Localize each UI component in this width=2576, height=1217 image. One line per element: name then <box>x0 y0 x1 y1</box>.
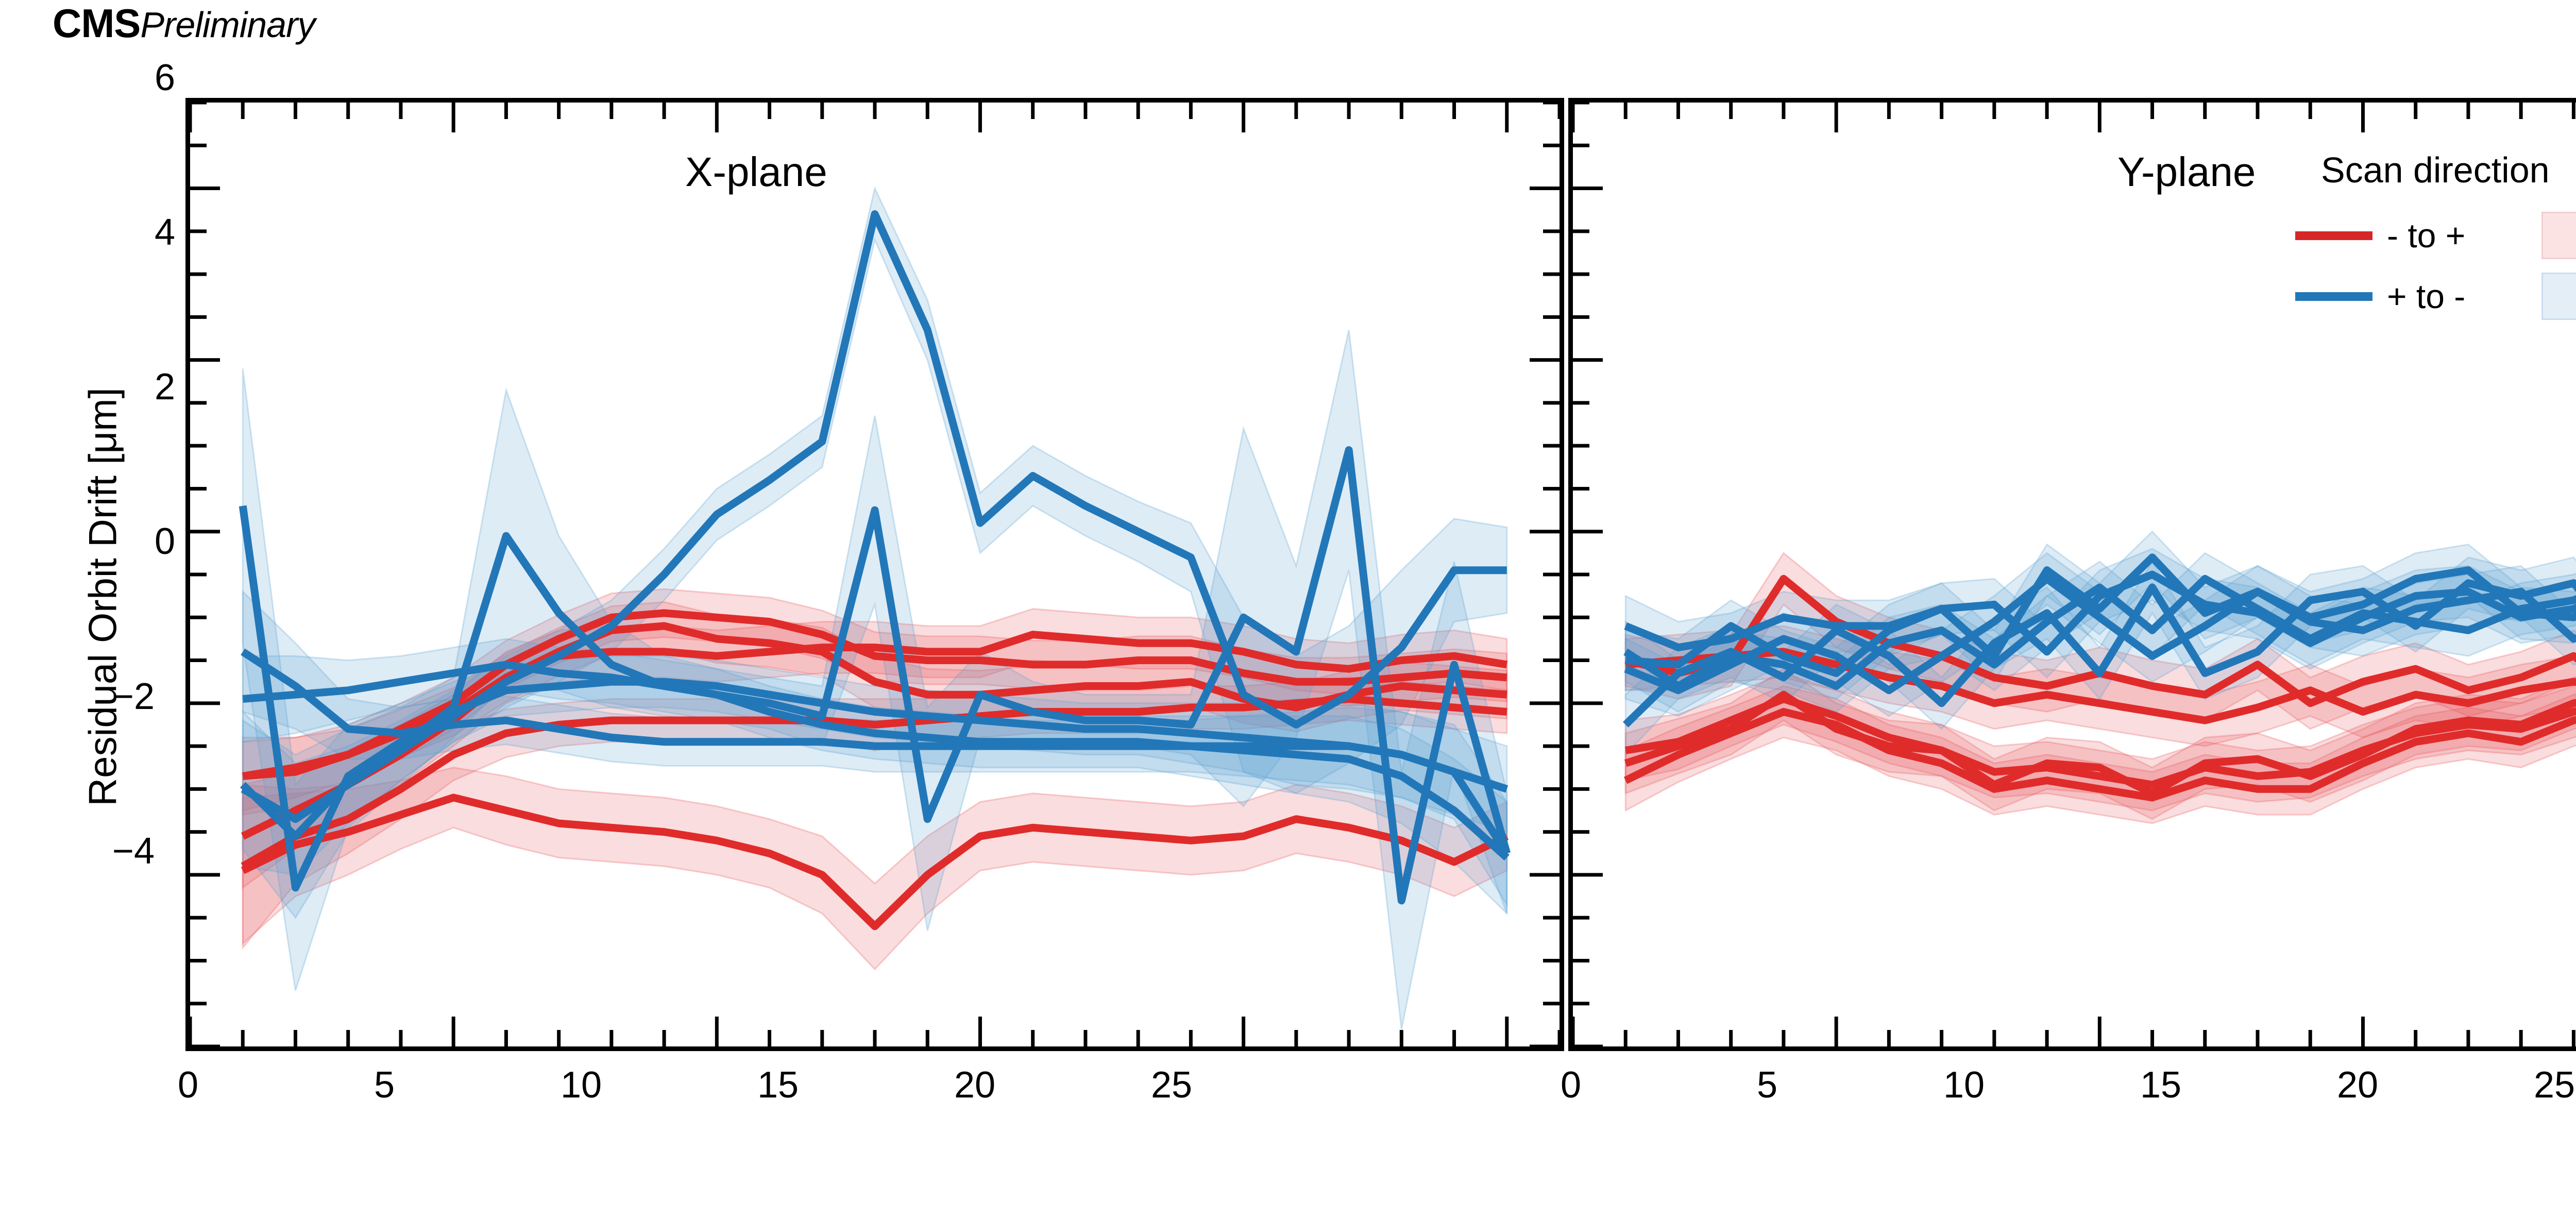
x-tick-label-left-0: 0 <box>137 1064 240 1106</box>
x-plane-label: X-plane <box>685 148 827 196</box>
x-tick-label-left-5: 5 <box>333 1064 436 1106</box>
x-tick-label-right-10: 10 <box>1912 1064 2015 1106</box>
legend-label-minus-to-plus: - to + <box>2387 216 2541 255</box>
legend-rows: - to + ±1σ + to - ±1σ <box>2295 205 2576 327</box>
preliminary-label: Preliminary <box>140 5 315 45</box>
x-tick-label-left-25: 25 <box>1120 1064 1223 1106</box>
figure-canvas: CMSPreliminary Fill 6868 (2018, 13 TeV) … <box>0 0 2576 1217</box>
legend-label-plus-to-minus: + to - <box>2387 277 2541 316</box>
x-tick-label-right-15: 15 <box>2109 1064 2212 1106</box>
legend: Scan direction - to + ±1σ + to - <box>2295 149 2576 327</box>
legend-title: Scan direction <box>2295 149 2576 191</box>
legend-band-swatch-red <box>2541 212 2576 259</box>
y-tick-label-0: 0 <box>82 520 175 563</box>
cms-header: CMSPreliminary <box>53 3 315 43</box>
uncertainty-bands <box>243 189 1507 1029</box>
legend-band-swatch-blue <box>2541 273 2576 320</box>
y-tick-label-2: 2 <box>82 366 175 408</box>
x-tick-label-left-10: 10 <box>530 1064 633 1106</box>
x-tick-label-left-15: 15 <box>726 1064 829 1106</box>
x-tick-label-right-0: 0 <box>1519 1064 1622 1106</box>
legend-row-plus-to-minus[interactable]: + to - ±1σ <box>2295 266 2576 327</box>
y-tick-label-6: 6 <box>82 57 175 99</box>
x-tick-label-right-25: 25 <box>2503 1064 2576 1106</box>
y-plane-label: Y-plane <box>2117 148 2256 196</box>
legend-row-minus-to-plus[interactable]: - to + ±1σ <box>2295 205 2576 266</box>
y-tick-label-m4: −4 <box>62 830 155 872</box>
x-plane-plot-area <box>190 103 1560 1046</box>
x-tick-label-right-5: 5 <box>1716 1064 1819 1106</box>
x-tick-label-right-20: 20 <box>2306 1064 2409 1106</box>
cms-logo-text: CMS <box>53 1 140 46</box>
y-axis-title: Residual Orbit Drift [μm] <box>81 185 126 1009</box>
y-tick-label-4: 4 <box>82 211 175 253</box>
uncertainty-band <box>243 768 1507 969</box>
x-tick-label-left-20: 20 <box>923 1064 1026 1106</box>
legend-line-swatch-red <box>2295 231 2372 240</box>
panel-x-plane <box>185 98 1564 1051</box>
y-tick-label-m2: −2 <box>62 675 155 718</box>
legend-line-swatch-blue <box>2295 292 2372 301</box>
